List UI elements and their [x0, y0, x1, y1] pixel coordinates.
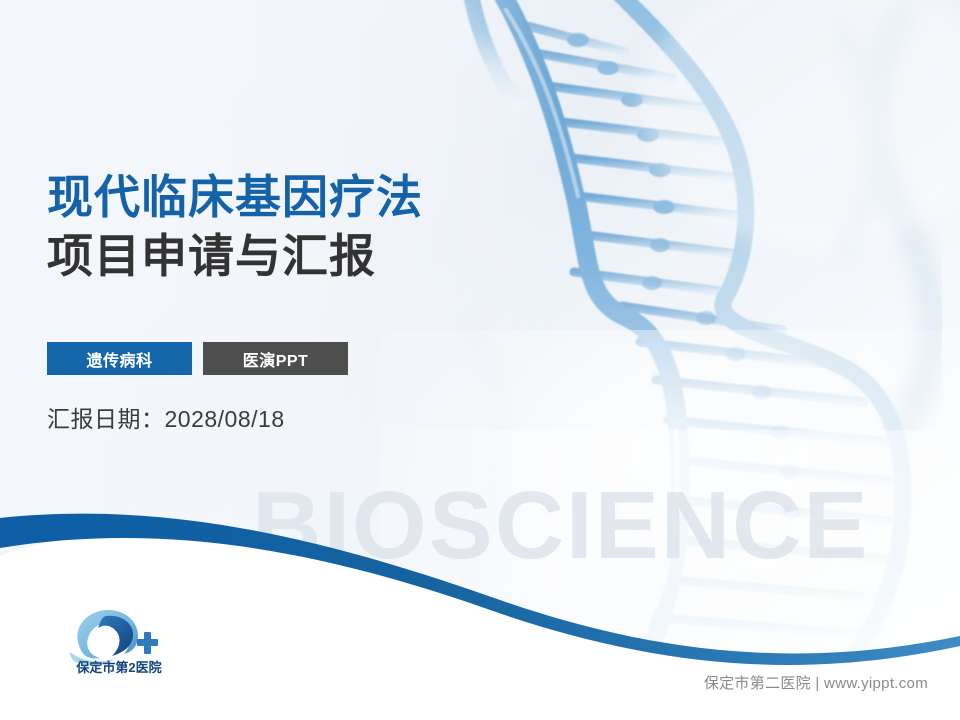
report-date: 汇报日期：2028/08/18 — [47, 400, 285, 434]
logo-cross-icon — [137, 632, 158, 654]
status-badge-department[interactable]: 遗传病科 — [47, 342, 192, 375]
title-line-secondary: 项目申请与汇报 — [47, 227, 423, 286]
footer-credit: 保定市第二医院 | www.yippt.com — [704, 672, 928, 693]
logo-caption: 保定市第2医院 — [75, 660, 161, 675]
status-badge-template[interactable]: 医演PPT — [203, 342, 348, 375]
hospital-logo: 保定市第2医院 — [60, 602, 178, 678]
badge-row: 遗传病科 医演PPT — [47, 342, 348, 375]
page-title: 现代临床基因疗法 项目申请与汇报 — [47, 168, 423, 286]
title-line-primary: 现代临床基因疗法 — [47, 168, 423, 227]
presentation-cover-slide: BIOSCIENCE 现代临床基因疗法 项目申请与汇报 遗传病科 医演PPT — [0, 0, 960, 720]
bioscience-watermark: BIOSCIENCE — [252, 478, 869, 574]
